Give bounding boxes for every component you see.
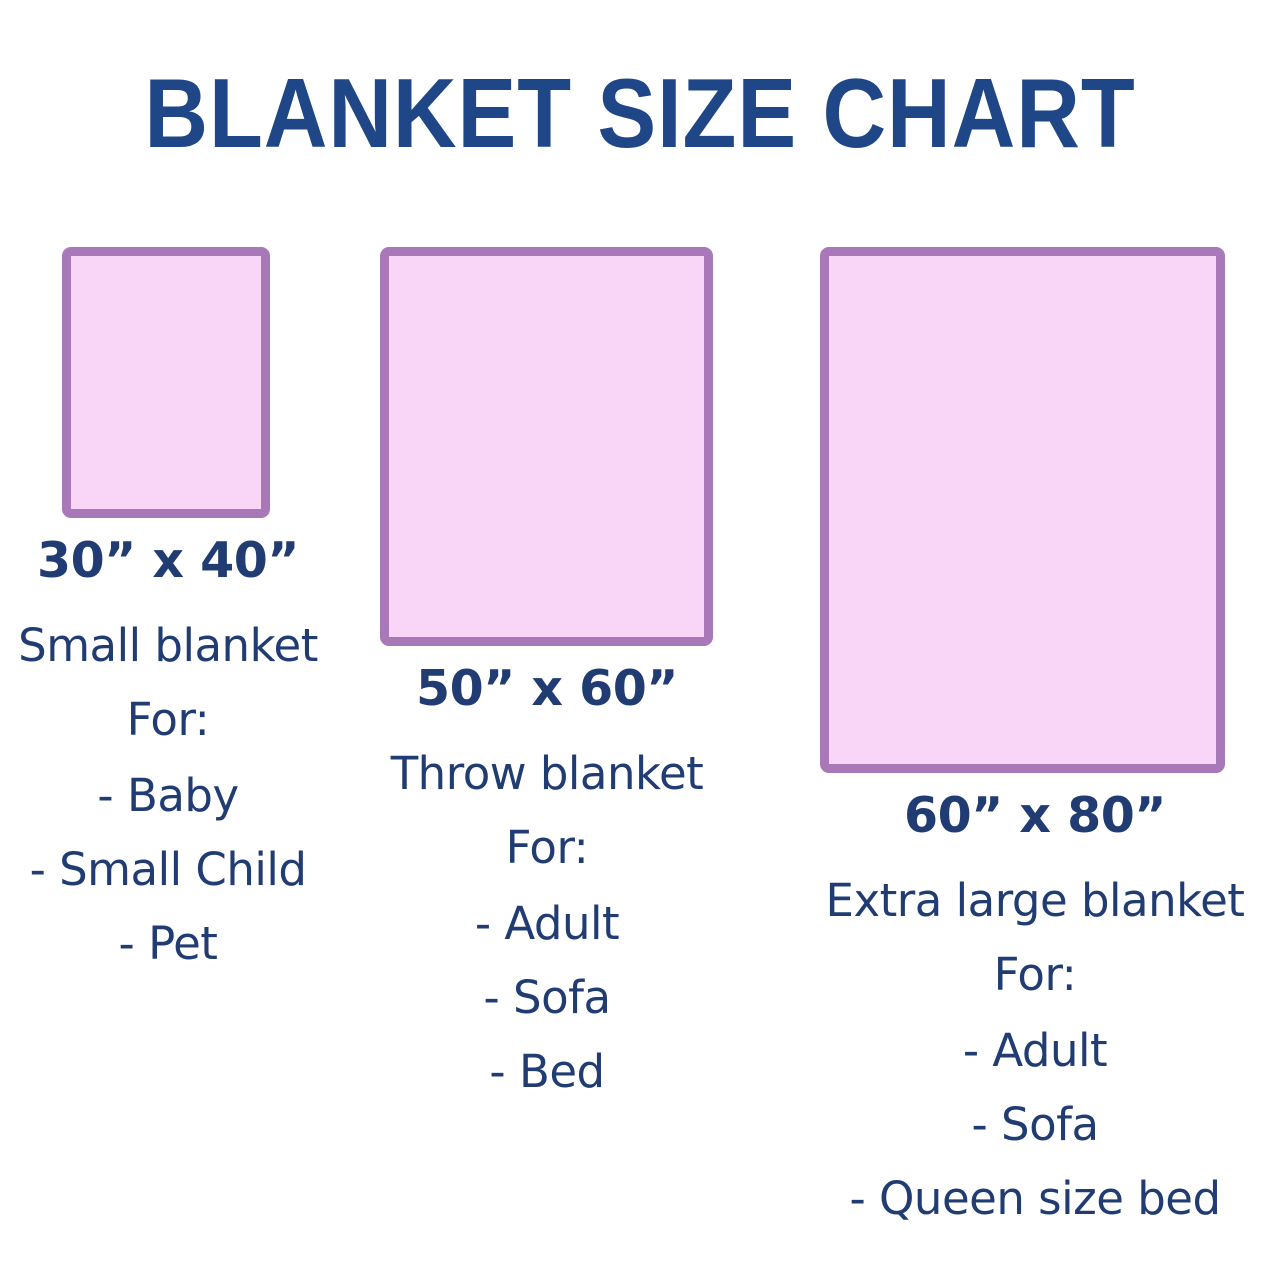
category-label-xlarge: Extra large blanket — [790, 878, 1280, 923]
dimension-label-throw: 50” x 60” — [352, 664, 742, 713]
use-item-throw-3: - Bed — [352, 1049, 742, 1094]
use-item-small-2: - Small Child — [0, 847, 336, 892]
for-label-throw: For: — [352, 825, 742, 870]
blanket-swatch-xlarge — [820, 247, 1225, 773]
use-item-small-1: - Baby — [0, 773, 336, 818]
blanket-swatch-throw — [380, 247, 713, 646]
dimension-label-small: 30” x 40” — [0, 536, 336, 585]
use-item-xlarge-1: - Adult — [790, 1028, 1280, 1073]
category-label-throw: Throw blanket — [352, 751, 742, 796]
blanket-swatch-small — [62, 247, 270, 518]
use-item-throw-2: - Sofa — [352, 975, 742, 1020]
size-details-throw: 50” x 60” Throw blanket For: - Adult - S… — [352, 664, 742, 1094]
size-details-small: 30” x 40” Small blanket For: - Baby - Sm… — [0, 536, 336, 966]
category-label-small: Small blanket — [0, 623, 336, 668]
size-details-xlarge: 60” x 80” Extra large blanket For: - Adu… — [790, 791, 1280, 1221]
use-item-xlarge-3: - Queen size bed — [790, 1176, 1280, 1221]
use-item-throw-1: - Adult — [352, 901, 742, 946]
for-label-small: For: — [0, 697, 336, 742]
use-item-small-3: - Pet — [0, 921, 336, 966]
use-item-xlarge-2: - Sofa — [790, 1102, 1280, 1147]
dimension-label-xlarge: 60” x 80” — [790, 791, 1280, 840]
page-title: BLANKET SIZE CHART — [64, 64, 1216, 162]
for-label-xlarge: For: — [790, 952, 1280, 997]
blanket-size-chart-page: { "title": "BLANKET SIZE CHART", "colors… — [0, 0, 1280, 1280]
